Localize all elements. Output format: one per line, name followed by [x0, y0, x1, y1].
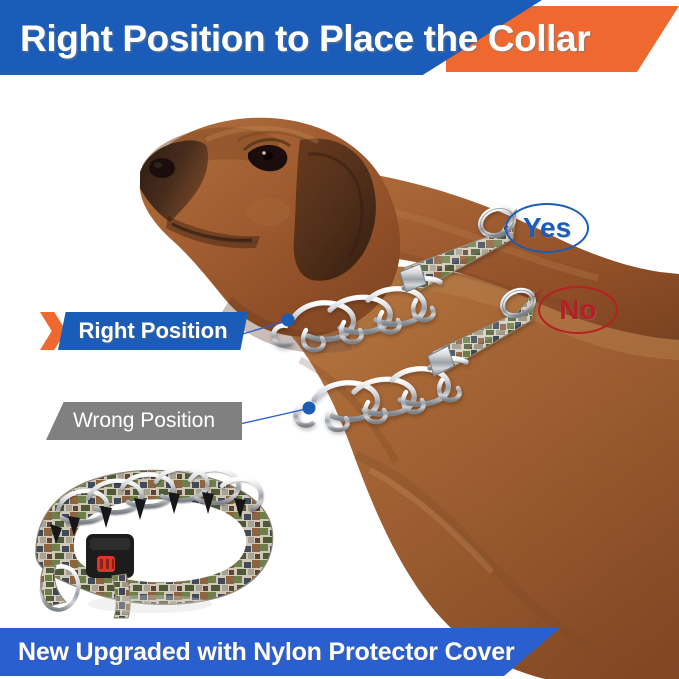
- callout-right-position: Right Position: [40, 312, 248, 350]
- badge-no-label: No: [559, 294, 596, 326]
- infographic-canvas: Right Position to Place the Collar Right…: [0, 0, 679, 679]
- quick-release-buckle: [86, 534, 134, 578]
- footer-title: New Upgraded with Nylon Protector Cover: [18, 634, 618, 672]
- badge-yes-label: Yes: [523, 212, 571, 244]
- header-banner: Right Position to Place the Collar: [0, 0, 679, 78]
- wrong-position-plate: Wrong Position: [46, 402, 242, 440]
- leader-dot-lower: [303, 402, 316, 415]
- wrong-position-label: Wrong Position: [73, 409, 215, 433]
- badge-yes: Yes: [505, 203, 589, 253]
- leader-dot-upper: [282, 314, 295, 327]
- right-position-label: Right Position: [78, 318, 227, 344]
- right-position-plate: Right Position: [58, 312, 248, 350]
- callout-wrong-position: Wrong Position: [46, 402, 242, 440]
- header-title: Right Position to Place the Collar: [20, 14, 660, 66]
- badge-no: No: [538, 286, 618, 334]
